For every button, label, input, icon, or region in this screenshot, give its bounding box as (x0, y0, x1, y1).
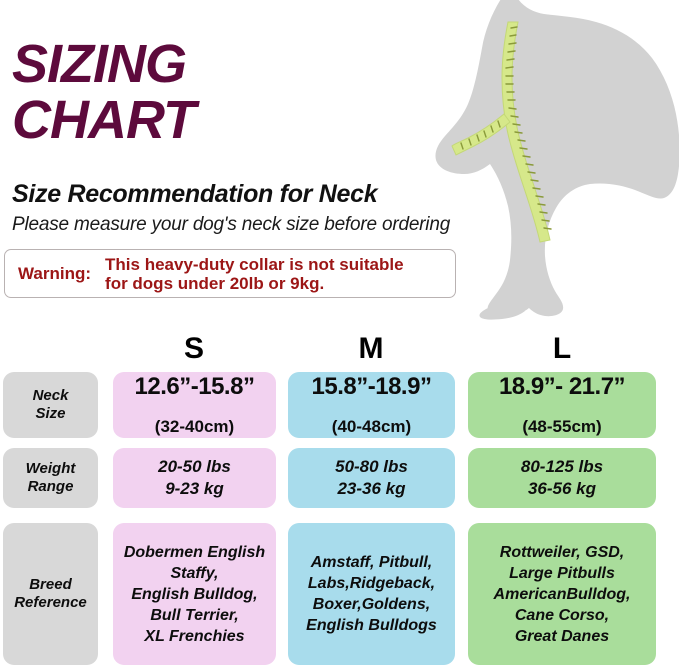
row-label-neck-size: Neck Size (3, 372, 98, 438)
warning-box: Warning: This heavy-duty collar is not s… (4, 249, 456, 298)
table-row-neck-size: Neck Size 12.6”-15.8” (32-40cm) 15.8”-18… (0, 369, 679, 446)
subtitle: Size Recommendation for Neck (12, 180, 377, 209)
warning-text: This heavy-duty collar is not suitable f… (105, 255, 404, 293)
neck-size-medium-inches: 15.8”-18.9” (312, 374, 432, 400)
table-row-breed-reference: Breed Reference Dobermen English Staffy,… (0, 521, 679, 672)
page-title: SIZING CHART (12, 38, 452, 146)
neck-size-large-inches: 18.9”- 21.7” (499, 374, 625, 400)
cell-weight-range-medium: 50-80 lbs 23-36 kg (288, 448, 455, 508)
row-label-breed-reference: Breed Reference (3, 523, 98, 665)
cell-weight-range-large: 80-125 lbs 36-56 kg (468, 448, 656, 508)
cell-neck-size-medium: 15.8”-18.9” (40-48cm) (288, 372, 455, 438)
cell-neck-size-large: 18.9”- 21.7” (48-55cm) (468, 372, 656, 438)
warning-label: Warning: (18, 264, 105, 284)
neck-size-medium-cm: (40-48cm) (312, 417, 432, 436)
title-line-2: CHART (12, 94, 452, 146)
cell-weight-range-small: 20-50 lbs 9-23 kg (113, 448, 276, 508)
dog-body-shape (435, 0, 679, 320)
neck-size-large-cm: (48-55cm) (499, 417, 625, 436)
row-label-weight-range: Weight Range (3, 448, 98, 508)
measurement-instruction: Please measure your dog's neck size befo… (12, 214, 450, 236)
title-line-1: SIZING (12, 38, 452, 90)
table-row-weight-range: Weight Range 20-50 lbs 9-23 kg 50-80 lbs… (0, 446, 679, 521)
sizing-table: Neck Size 12.6”-15.8” (32-40cm) 15.8”-18… (0, 369, 679, 672)
measuring-tape-icon (452, 22, 551, 242)
cell-neck-size-small: 12.6”-15.8” (32-40cm) (113, 372, 276, 438)
cell-breed-reference-small: Dobermen English Staffy, English Bulldog… (113, 523, 276, 665)
neck-size-small-cm: (32-40cm) (135, 417, 255, 436)
cell-breed-reference-medium: Amstaff, Pitbull, Labs,Ridgeback, Boxer,… (288, 523, 455, 665)
neck-size-small-inches: 12.6”-15.8” (135, 374, 255, 400)
cell-breed-reference-large: Rottweiler, GSD, Large Pitbulls American… (468, 523, 656, 665)
